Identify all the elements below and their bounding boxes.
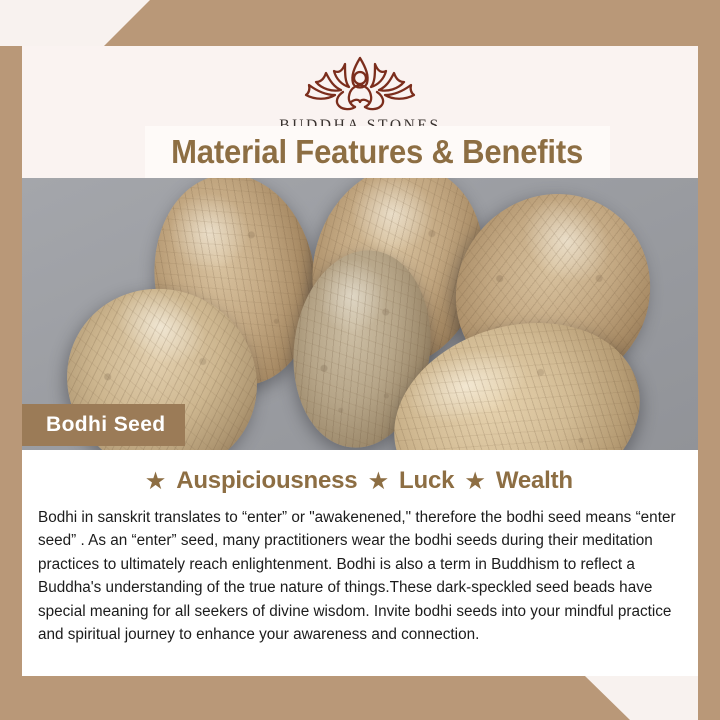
photo-caption-band: Bodhi Seed — [22, 404, 185, 446]
title-banner: Material Features & Benefits — [145, 126, 610, 178]
lotus-meditation-icon — [285, 52, 435, 114]
description-panel: ★ Auspiciousness ★ Luck ★ Wealth Bodhi i… — [22, 450, 698, 676]
star-icon: ★ — [367, 470, 390, 493]
benefit-luck: Luck — [396, 467, 457, 494]
brand-logo: BUDDHA STONES — [0, 52, 720, 135]
benefit-wealth: Wealth — [493, 467, 576, 494]
star-icon: ★ — [144, 470, 167, 493]
frame-left-band — [0, 46, 22, 720]
page-title: Material Features & Benefits — [172, 133, 584, 171]
frame-bottom-band — [0, 676, 720, 720]
benefits-heading: ★ Auspiciousness ★ Luck ★ Wealth — [22, 450, 698, 495]
frame-top-band — [0, 0, 720, 46]
benefit-auspiciousness: Auspiciousness — [173, 467, 360, 494]
description-text: Bodhi in sanskrit translates to “enter” … — [38, 506, 682, 646]
photo-caption-text: Bodhi Seed — [22, 413, 166, 437]
product-photo: Bodhi Seed — [22, 178, 698, 450]
infographic-page: BUDDHA STONES Material Features & Benefi… — [0, 0, 720, 720]
star-icon: ★ — [464, 470, 487, 493]
